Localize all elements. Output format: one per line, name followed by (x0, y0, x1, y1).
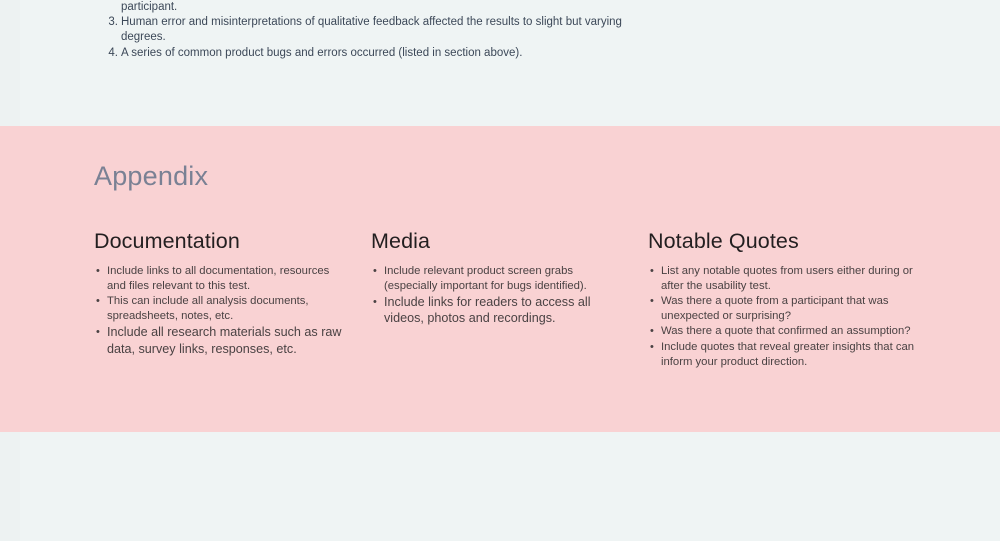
documentation-bullet-list: • Include links to all documentation, re… (94, 264, 347, 357)
list-item-text: Was there a quote from a participant tha… (661, 295, 889, 322)
media-bullet-list: • Include relevant product screen grabs … (371, 264, 624, 327)
column-heading-media: Media (371, 228, 624, 254)
bullet-icon: • (373, 264, 377, 279)
list-item: • Include links for readers to access al… (371, 294, 624, 326)
bullet-icon: • (650, 294, 654, 309)
list-item: • Include relevant product screen grabs … (371, 264, 624, 293)
list-item: • Include all research materials such as… (94, 324, 347, 356)
list-item: 3. Human error and misinterpretations of… (105, 15, 665, 45)
list-item-text: Was there a quote that confirmed an assu… (661, 325, 911, 337)
list-item-text: A series of common product bugs and erro… (121, 47, 522, 59)
document-page: participant. 3. Human error and misinter… (0, 0, 1000, 541)
page-gutter-bottom (0, 432, 20, 541)
list-item: • Include quotes that reveal greater ins… (648, 340, 924, 369)
list-item: 4. A series of common product bugs and e… (105, 46, 665, 61)
list-item-text: Include relevant product screen grabs (e… (384, 265, 587, 292)
notable-quotes-bullet-list: • List any notable quotes from users eit… (648, 264, 924, 369)
bullet-icon: • (96, 294, 100, 309)
list-item-text: Include links for readers to access all … (384, 295, 591, 325)
list-item-text: Include links to all documentation, reso… (107, 265, 329, 292)
list-item-text: List any notable quotes from users eithe… (661, 265, 913, 292)
list-item-number: 4. (105, 46, 118, 61)
appendix-title: Appendix (94, 160, 208, 192)
bullet-icon: • (96, 324, 100, 340)
bullet-icon: • (650, 264, 654, 279)
appendix-column-documentation: Documentation • Include links to all doc… (94, 228, 371, 358)
list-item-number: 3. (105, 15, 118, 30)
page-gutter-top (0, 0, 20, 126)
appendix-column-media: Media • Include relevant product screen … (371, 228, 648, 328)
list-item: • List any notable quotes from users eit… (648, 264, 924, 293)
list-item-text: Include quotes that reveal greater insig… (661, 341, 914, 368)
list-item: • Include links to all documentation, re… (94, 264, 347, 293)
list-item-text: This can include all analysis documents,… (107, 295, 309, 322)
previous-section-orphan-line: participant. (121, 0, 665, 15)
bullet-icon: • (650, 324, 654, 339)
bullet-icon: • (96, 264, 100, 279)
column-heading-documentation: Documentation (94, 228, 347, 254)
page-footer-band (0, 432, 1000, 541)
column-heading-notable-quotes: Notable Quotes (648, 228, 924, 254)
previous-section-ordered-list: 3. Human error and misinterpretations of… (105, 15, 665, 61)
appendix-column-notable-quotes: Notable Quotes • List any notable quotes… (648, 228, 924, 370)
bullet-icon: • (373, 294, 377, 310)
list-item: • Was there a quote from a participant t… (648, 294, 924, 323)
appendix-columns: Documentation • Include links to all doc… (94, 228, 924, 370)
previous-section-list: participant. 3. Human error and misinter… (105, 0, 665, 61)
list-item: • This can include all analysis document… (94, 294, 347, 323)
previous-section-band: participant. 3. Human error and misinter… (0, 0, 1000, 126)
list-item-text: Include all research materials such as r… (107, 325, 342, 355)
bullet-icon: • (650, 340, 654, 355)
list-item: • Was there a quote that confirmed an as… (648, 324, 924, 339)
list-item-text: Human error and misinterpretations of qu… (121, 16, 622, 43)
